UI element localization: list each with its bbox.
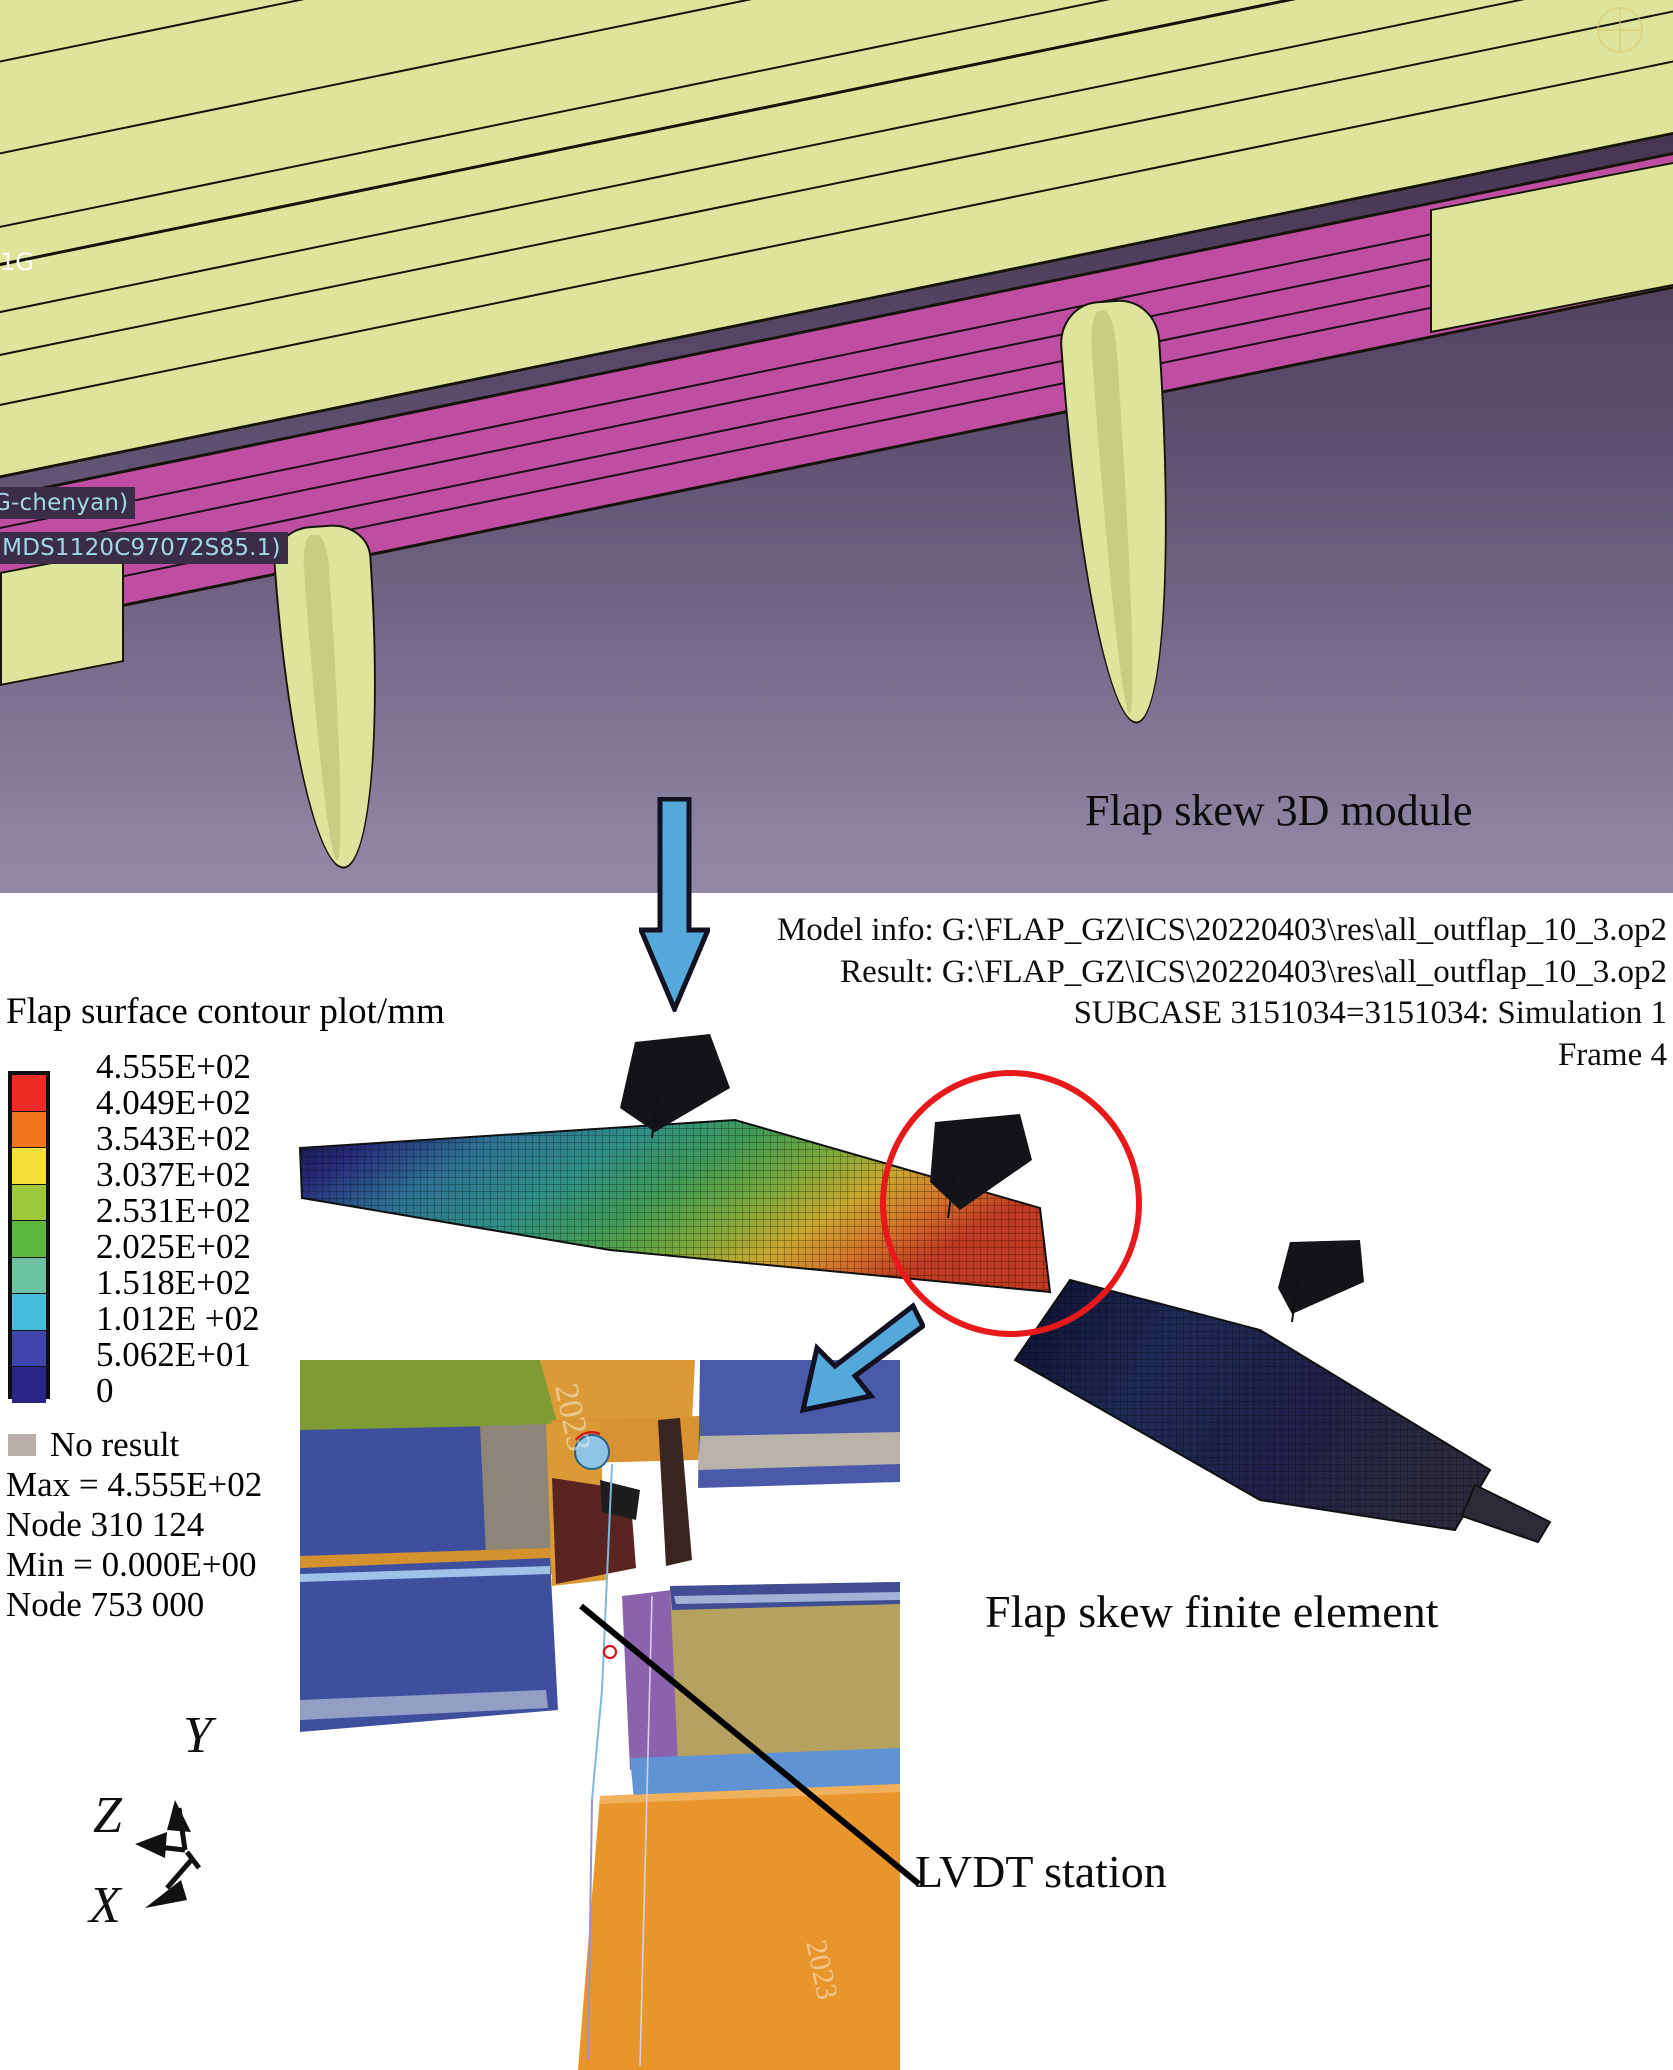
viewport-axis-widget — [1585, 0, 1655, 70]
flap-track-fairing-left — [271, 522, 393, 872]
lvdt-station-caption: LVDT station — [915, 1845, 1167, 1898]
fe-fairing-1 — [620, 1034, 730, 1132]
legend-value-2: 3.543E+02 — [96, 1121, 306, 1157]
lvdt-leader-line — [575, 1600, 925, 1890]
entity-tooltip-part-number: (MDS1120C97072S85.1) — [0, 532, 288, 564]
legend-value-9: 0 — [96, 1373, 306, 1409]
legend-value-8: 5.062E+01 — [96, 1337, 306, 1373]
axis-label-x: X — [87, 1877, 123, 1930]
legend-value-3: 3.037E+02 — [96, 1157, 306, 1193]
legend-value-0: 4.555E+02 — [96, 1049, 306, 1085]
wing-inboard-panel — [0, 548, 124, 686]
legend-value-6: 1.518E+02 — [96, 1265, 306, 1301]
legend-value-list: 4.555E+024.049E+023.543E+023.037E+022.53… — [56, 1049, 306, 1409]
flap-skew-3d-module-viewport[interactable]: 1G G-chenyan) (MDS1120C97072S85.1) Flap … — [0, 0, 1673, 893]
legend-value-5: 2.025E+02 — [96, 1229, 306, 1265]
legend-swatch-7 — [12, 1331, 46, 1368]
legend-swatch-6 — [12, 1294, 46, 1331]
legend-stat-0: Max = 4.555E+02 — [6, 1465, 306, 1505]
legend-title: Flap surface contour plot/mm — [6, 990, 306, 1033]
axis-triad: Y Z X — [75, 1700, 295, 1930]
axis-label-z: Z — [93, 1787, 123, 1844]
legend-swatch-8 — [12, 1367, 46, 1403]
legend-no-result-row: No result — [8, 1425, 306, 1465]
legend-swatch-0 — [12, 1075, 46, 1112]
no-result-label: No result — [50, 1425, 179, 1465]
axis-label-y: Y — [183, 1707, 217, 1764]
contour-legend: Flap surface contour plot/mm 4.555E+024.… — [6, 990, 306, 1625]
legend-swatch-4 — [12, 1221, 46, 1258]
load-case-label: 1G — [0, 248, 34, 276]
legend-swatch-5 — [12, 1258, 46, 1295]
legend-stat-2: Min = 0.000E+00 — [6, 1545, 306, 1585]
model-info-line-model: Model info: G:\FLAP_GZ\ICS\20220403\res\… — [777, 910, 1667, 952]
legend-swatch-2 — [12, 1148, 46, 1185]
legend-stat-1: Node 310 124 — [6, 1505, 306, 1545]
legend-swatch-1 — [12, 1112, 46, 1149]
module-title: Flap skew 3D module — [1085, 785, 1472, 836]
entity-tooltip-chenyan: G-chenyan) — [0, 487, 135, 519]
legend-swatch-3 — [12, 1185, 46, 1222]
legend-colorbar — [8, 1071, 50, 1399]
wing-tip-panel — [1430, 161, 1673, 333]
model-info-line-result: Result: G:\FLAP_GZ\ICS\20220403\res\all_… — [777, 952, 1667, 994]
legend-stats-block: Max = 4.555E+02Node 310 124Min = 0.000E+… — [6, 1465, 306, 1625]
flow-down-arrow-icon — [639, 797, 710, 1012]
highlight-circle — [880, 1070, 1142, 1337]
detail-pointer-arrow-icon — [795, 1300, 925, 1420]
flap-outboard-mesh — [1015, 1280, 1550, 1542]
no-result-swatch — [8, 1434, 36, 1456]
legend-value-4: 2.531E+02 — [96, 1193, 306, 1229]
legend-value-7: 1.012E +02 — [96, 1301, 306, 1337]
flap-skew-fe-caption: Flap skew finite element — [985, 1585, 1439, 1638]
model-info-line-subcase: SUBCASE 3151034=3151034: Simulation 1 — [777, 993, 1667, 1035]
fe-fairing-3 — [1278, 1240, 1364, 1314]
legend-value-1: 4.049E+02 — [96, 1085, 306, 1121]
legend-stat-3: Node 753 000 — [6, 1585, 306, 1625]
